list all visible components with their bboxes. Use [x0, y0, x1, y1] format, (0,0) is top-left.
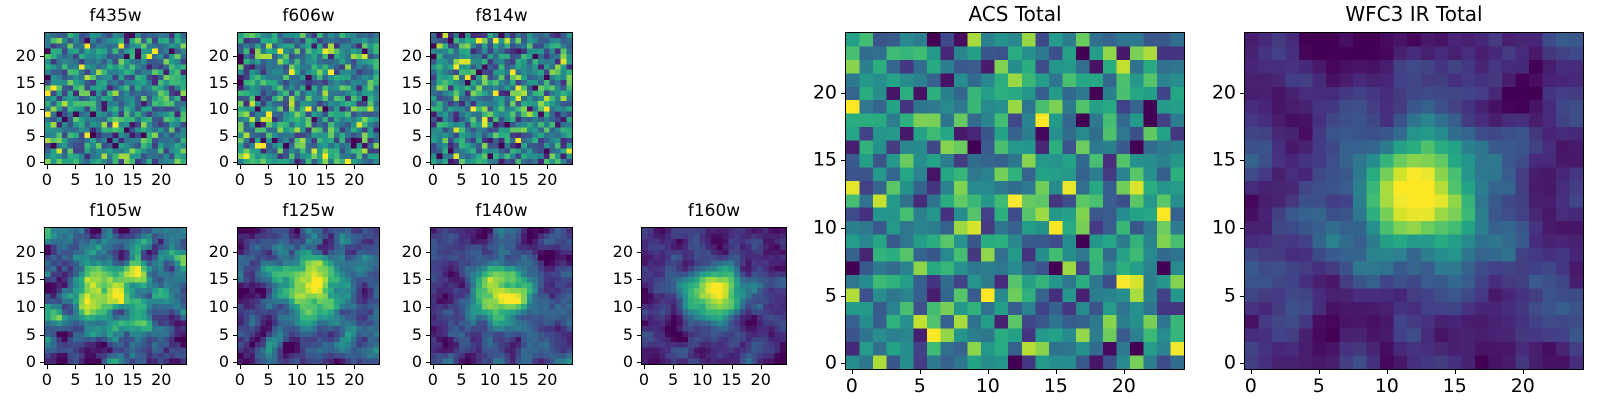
y-tick-label-f125w-1: 5: [199, 327, 229, 343]
x-tick-acs-total-2: [988, 370, 989, 374]
x-tick-label-f125w-0: 0: [235, 372, 245, 388]
x-tick-f140w-0: [433, 365, 434, 369]
heatmap-f814w: [430, 32, 573, 165]
heatmap-image-f140w: [431, 228, 572, 364]
x-tick-wfc3-ir-total-3: [1455, 370, 1456, 374]
x-tick-label-f606w-2: 10: [287, 172, 307, 188]
x-tick-acs-total-0: [852, 370, 853, 374]
x-tick-f160w-2: [702, 365, 703, 369]
x-tick-label-f140w-4: 20: [537, 372, 557, 388]
figure-canvas: f435w0510152005101520f606w05101520051015…: [0, 0, 1600, 400]
y-tick-f105w-0: [40, 362, 44, 363]
x-tick-label-f814w-3: 15: [508, 172, 528, 188]
x-tick-label-f435w-2: 10: [94, 172, 114, 188]
y-tick-f814w-4: [426, 56, 430, 57]
y-tick-label-wfc3-ir-total-0: 0: [1202, 354, 1236, 373]
x-tick-f435w-0: [47, 165, 48, 169]
y-tick-f105w-1: [40, 335, 44, 336]
panel-acs-total: ACS Total0510152005101520: [785, 2, 1195, 402]
y-tick-f140w-0: [426, 362, 430, 363]
x-tick-f105w-4: [161, 365, 162, 369]
x-tick-label-f435w-0: 0: [42, 172, 52, 188]
y-tick-label-f140w-1: 5: [392, 327, 422, 343]
x-tick-label-f160w-1: 5: [668, 372, 678, 388]
y-tick-f160w-1: [637, 335, 641, 336]
y-tick-f814w-2: [426, 109, 430, 110]
x-tick-label-f125w-2: 10: [287, 372, 307, 388]
y-tick-label-acs-total-0: 0: [803, 354, 837, 373]
y-tick-f606w-4: [233, 56, 237, 57]
y-tick-label-f814w-3: 15: [392, 75, 422, 91]
x-tick-label-f125w-3: 15: [315, 372, 335, 388]
y-tick-f814w-0: [426, 162, 430, 163]
x-tick-f606w-2: [297, 165, 298, 169]
y-tick-f435w-4: [40, 56, 44, 57]
heatmap-f606w: [237, 32, 380, 165]
x-tick-label-f125w-1: 5: [263, 372, 273, 388]
x-tick-f125w-4: [354, 365, 355, 369]
x-tick-f606w-3: [326, 165, 327, 169]
y-tick-acs-total-1: [841, 296, 845, 297]
y-tick-label-f160w-4: 20: [603, 244, 633, 260]
y-tick-f160w-0: [637, 362, 641, 363]
x-tick-f105w-0: [47, 365, 48, 369]
y-tick-label-f125w-3: 15: [199, 271, 229, 287]
panel-title-f435w: f435w: [44, 8, 187, 25]
y-tick-label-f606w-4: 20: [199, 48, 229, 64]
y-tick-wfc3-ir-total-1: [1240, 296, 1244, 297]
x-tick-f814w-3: [519, 165, 520, 169]
x-tick-label-wfc3-ir-total-4: 20: [1511, 377, 1535, 396]
x-tick-label-f140w-0: 0: [428, 372, 438, 388]
y-tick-label-f814w-0: 0: [392, 154, 422, 170]
x-tick-label-wfc3-ir-total-2: 10: [1375, 377, 1399, 396]
y-tick-label-f160w-0: 0: [603, 354, 633, 370]
x-tick-label-f125w-4: 20: [344, 372, 364, 388]
y-tick-f105w-4: [40, 252, 44, 253]
heatmap-image-wfc3-ir-total: [1245, 33, 1583, 369]
x-tick-label-f160w-2: 10: [692, 372, 712, 388]
y-tick-label-f435w-4: 20: [6, 48, 36, 64]
x-tick-label-acs-total-3: 15: [1044, 377, 1068, 396]
x-tick-f140w-2: [490, 365, 491, 369]
y-tick-wfc3-ir-total-0: [1240, 363, 1244, 364]
panel-title-acs-total: ACS Total: [845, 4, 1185, 24]
panel-title-f105w: f105w: [44, 203, 187, 220]
x-tick-label-acs-total-0: 0: [846, 377, 858, 396]
x-tick-label-f160w-4: 20: [751, 372, 771, 388]
heatmap-f125w: [237, 227, 380, 365]
x-tick-label-f160w-0: 0: [639, 372, 649, 388]
x-tick-label-wfc3-ir-total-0: 0: [1245, 377, 1257, 396]
panel-wfc3-ir-total: WFC3 IR Total0510152005101520: [1184, 2, 1594, 402]
x-tick-f140w-3: [519, 365, 520, 369]
y-tick-label-f140w-0: 0: [392, 354, 422, 370]
y-tick-label-f125w-4: 20: [199, 244, 229, 260]
heatmap-wfc3-ir-total: [1244, 32, 1584, 370]
heatmap-image-f814w: [431, 33, 572, 164]
x-tick-f435w-3: [133, 165, 134, 169]
y-tick-f435w-0: [40, 162, 44, 163]
y-tick-label-wfc3-ir-total-4: 20: [1202, 83, 1236, 102]
y-tick-label-f606w-3: 15: [199, 75, 229, 91]
x-tick-label-f814w-0: 0: [428, 172, 438, 188]
y-tick-label-f606w-0: 0: [199, 154, 229, 170]
x-tick-f435w-2: [104, 165, 105, 169]
y-tick-acs-total-0: [841, 363, 845, 364]
x-tick-f606w-0: [240, 165, 241, 169]
y-tick-wfc3-ir-total-2: [1240, 228, 1244, 229]
x-tick-label-f814w-4: 20: [537, 172, 557, 188]
y-tick-f125w-3: [233, 279, 237, 280]
heatmap-image-f435w: [45, 33, 186, 164]
heatmap-f435w: [44, 32, 187, 165]
x-tick-f125w-0: [240, 365, 241, 369]
x-tick-label-wfc3-ir-total-1: 5: [1313, 377, 1325, 396]
heatmap-f160w: [641, 227, 787, 365]
y-tick-label-f105w-0: 0: [6, 354, 36, 370]
x-tick-label-f606w-3: 15: [315, 172, 335, 188]
x-tick-wfc3-ir-total-0: [1251, 370, 1252, 374]
y-tick-f140w-3: [426, 279, 430, 280]
y-tick-label-f140w-4: 20: [392, 244, 422, 260]
x-tick-f606w-1: [268, 165, 269, 169]
panel-title-f140w: f140w: [430, 203, 573, 220]
y-tick-wfc3-ir-total-4: [1240, 93, 1244, 94]
y-tick-label-f435w-1: 5: [6, 128, 36, 144]
panel-title-wfc3-ir-total: WFC3 IR Total: [1244, 4, 1584, 24]
heatmap-acs-total: [845, 32, 1185, 370]
x-tick-label-f606w-4: 20: [344, 172, 364, 188]
x-tick-wfc3-ir-total-1: [1319, 370, 1320, 374]
x-tick-label-f435w-4: 20: [151, 172, 171, 188]
y-tick-wfc3-ir-total-3: [1240, 160, 1244, 161]
x-tick-f606w-4: [354, 165, 355, 169]
panel-title-f125w: f125w: [237, 203, 380, 220]
y-tick-label-wfc3-ir-total-3: 15: [1202, 151, 1236, 170]
x-tick-label-f435w-1: 5: [70, 172, 80, 188]
y-tick-f435w-3: [40, 83, 44, 84]
x-tick-f105w-3: [133, 365, 134, 369]
y-tick-label-f160w-3: 15: [603, 271, 633, 287]
x-tick-label-f105w-2: 10: [94, 372, 114, 388]
x-tick-label-acs-total-1: 5: [914, 377, 926, 396]
y-tick-f606w-3: [233, 83, 237, 84]
x-tick-f160w-0: [644, 365, 645, 369]
y-tick-f140w-4: [426, 252, 430, 253]
y-tick-acs-total-2: [841, 228, 845, 229]
y-tick-label-wfc3-ir-total-2: 10: [1202, 219, 1236, 238]
x-tick-label-f105w-1: 5: [70, 372, 80, 388]
x-tick-label-acs-total-2: 10: [976, 377, 1000, 396]
x-tick-f435w-1: [75, 165, 76, 169]
y-tick-label-f105w-4: 20: [6, 244, 36, 260]
y-tick-f125w-2: [233, 307, 237, 308]
heatmap-image-f125w: [238, 228, 379, 364]
x-tick-label-f140w-3: 15: [508, 372, 528, 388]
x-tick-label-f814w-1: 5: [456, 172, 466, 188]
x-tick-f125w-3: [326, 365, 327, 369]
y-tick-label-f435w-2: 10: [6, 101, 36, 117]
y-tick-f160w-4: [637, 252, 641, 253]
y-tick-label-f105w-2: 10: [6, 299, 36, 315]
x-tick-label-acs-total-4: 20: [1112, 377, 1136, 396]
y-tick-f125w-1: [233, 335, 237, 336]
y-tick-acs-total-3: [841, 160, 845, 161]
y-tick-label-f814w-4: 20: [392, 48, 422, 64]
x-tick-acs-total-3: [1056, 370, 1057, 374]
y-tick-f814w-1: [426, 136, 430, 137]
panel-f814w: f814w0510152005101520: [386, 6, 581, 195]
x-tick-f814w-2: [490, 165, 491, 169]
y-tick-f105w-2: [40, 307, 44, 308]
x-tick-f160w-4: [761, 365, 762, 369]
x-tick-f125w-2: [297, 365, 298, 369]
panel-title-f606w: f606w: [237, 8, 380, 25]
y-tick-f160w-2: [637, 307, 641, 308]
y-tick-acs-total-4: [841, 93, 845, 94]
x-tick-wfc3-ir-total-2: [1387, 370, 1388, 374]
heatmap-f140w: [430, 227, 573, 365]
y-tick-f606w-0: [233, 162, 237, 163]
x-tick-f125w-1: [268, 365, 269, 369]
y-tick-label-acs-total-4: 20: [803, 83, 837, 102]
x-tick-label-f606w-1: 5: [263, 172, 273, 188]
y-tick-f435w-2: [40, 109, 44, 110]
x-tick-label-f160w-3: 15: [721, 372, 741, 388]
y-tick-label-f105w-3: 15: [6, 271, 36, 287]
y-tick-label-f125w-2: 10: [199, 299, 229, 315]
heatmap-image-f606w: [238, 33, 379, 164]
y-tick-label-f814w-1: 5: [392, 128, 422, 144]
x-tick-label-f105w-3: 15: [122, 372, 142, 388]
y-tick-label-f606w-1: 5: [199, 128, 229, 144]
y-tick-label-f140w-2: 10: [392, 299, 422, 315]
x-tick-f140w-1: [461, 365, 462, 369]
y-tick-label-f606w-2: 10: [199, 101, 229, 117]
y-tick-f140w-1: [426, 335, 430, 336]
panel-f105w: f105w0510152005101520: [0, 201, 195, 395]
x-tick-f160w-3: [732, 365, 733, 369]
x-tick-label-f435w-3: 15: [122, 172, 142, 188]
y-tick-f435w-1: [40, 136, 44, 137]
y-tick-label-f140w-3: 15: [392, 271, 422, 287]
panel-f435w: f435w0510152005101520: [0, 6, 195, 195]
y-tick-label-wfc3-ir-total-1: 5: [1202, 286, 1236, 305]
x-tick-f140w-4: [547, 365, 548, 369]
y-tick-label-f125w-0: 0: [199, 354, 229, 370]
y-tick-label-f160w-1: 5: [603, 327, 633, 343]
x-tick-f814w-0: [433, 165, 434, 169]
y-tick-label-acs-total-1: 5: [803, 286, 837, 305]
panel-f125w: f125w0510152005101520: [193, 201, 388, 395]
y-tick-f140w-2: [426, 307, 430, 308]
x-tick-wfc3-ir-total-4: [1523, 370, 1524, 374]
panel-title-f814w: f814w: [430, 8, 573, 25]
y-tick-label-f435w-0: 0: [6, 154, 36, 170]
y-tick-f125w-0: [233, 362, 237, 363]
y-tick-f814w-3: [426, 83, 430, 84]
x-tick-f435w-4: [161, 165, 162, 169]
x-tick-f105w-1: [75, 365, 76, 369]
y-tick-label-acs-total-3: 15: [803, 151, 837, 170]
x-tick-acs-total-1: [920, 370, 921, 374]
panel-f606w: f606w0510152005101520: [193, 6, 388, 195]
y-tick-f105w-3: [40, 279, 44, 280]
y-tick-label-f160w-2: 10: [603, 299, 633, 315]
heatmap-image-f160w: [642, 228, 786, 364]
y-tick-label-f435w-3: 15: [6, 75, 36, 91]
x-tick-f160w-1: [673, 365, 674, 369]
y-tick-f606w-2: [233, 109, 237, 110]
x-tick-label-f105w-4: 20: [151, 372, 171, 388]
y-tick-f160w-3: [637, 279, 641, 280]
panel-f160w: f160w0510152005101520: [597, 201, 795, 395]
y-tick-label-f814w-2: 10: [392, 101, 422, 117]
y-tick-f606w-1: [233, 136, 237, 137]
heatmap-image-f105w: [45, 228, 186, 364]
x-tick-acs-total-4: [1124, 370, 1125, 374]
y-tick-label-f105w-1: 5: [6, 327, 36, 343]
heatmap-f105w: [44, 227, 187, 365]
x-tick-label-f606w-0: 0: [235, 172, 245, 188]
x-tick-f814w-1: [461, 165, 462, 169]
x-tick-label-wfc3-ir-total-3: 15: [1443, 377, 1467, 396]
x-tick-label-f814w-2: 10: [480, 172, 500, 188]
y-tick-label-acs-total-2: 10: [803, 219, 837, 238]
panel-f140w: f140w0510152005101520: [386, 201, 581, 395]
x-tick-f814w-4: [547, 165, 548, 169]
x-tick-label-f140w-2: 10: [480, 372, 500, 388]
x-tick-f105w-2: [104, 365, 105, 369]
panel-title-f160w: f160w: [641, 203, 787, 220]
y-tick-f125w-4: [233, 252, 237, 253]
x-tick-label-f105w-0: 0: [42, 372, 52, 388]
heatmap-image-acs-total: [846, 33, 1184, 369]
x-tick-label-f140w-1: 5: [456, 372, 466, 388]
